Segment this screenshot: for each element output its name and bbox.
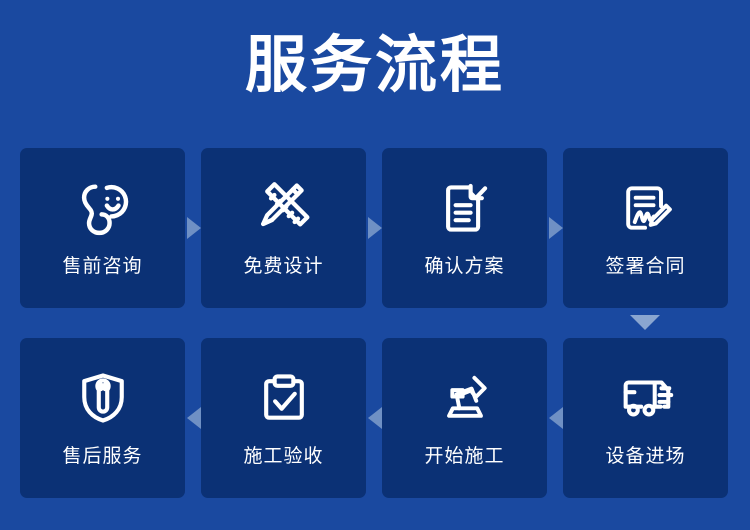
process-step-card-6[interactable]: 开始施工: [382, 338, 547, 498]
pencil-ruler-icon: [201, 172, 366, 244]
process-grid: 售前咨询 免费设计: [20, 148, 730, 498]
arrow-left-icon: [549, 407, 563, 429]
process-step-label: 售前咨询: [20, 254, 185, 280]
shield-wrench-icon: [20, 362, 185, 434]
page-title: 服务流程: [0, 28, 750, 104]
delivery-truck-icon: [563, 362, 728, 434]
process-step-card-7[interactable]: 施工验收: [201, 338, 366, 498]
clipboard-check-icon: [201, 362, 366, 434]
arrow-left-icon: [368, 407, 382, 429]
arrow-right-icon: [549, 217, 563, 239]
process-step-label: 免费设计: [201, 254, 366, 280]
process-step-card-8[interactable]: 售后服务: [20, 338, 185, 498]
contract-signature-pen-icon: [563, 172, 728, 244]
process-step-card-3[interactable]: 确认方案: [382, 148, 547, 308]
process-step-card-4[interactable]: 签署合同: [563, 148, 728, 308]
process-step-label: 售后服务: [20, 444, 185, 470]
process-step-label: 设备进场: [563, 444, 728, 470]
service-process-infographic: 服务流程 售前咨询: [0, 0, 750, 530]
process-step-label: 签署合同: [563, 254, 728, 280]
process-step-card-1[interactable]: 售前咨询: [20, 148, 185, 308]
process-step-card-5[interactable]: 设备进场: [563, 338, 728, 498]
arrow-right-icon: [187, 217, 201, 239]
excavator-icon: [382, 362, 547, 434]
process-step-card-2[interactable]: 免费设计: [201, 148, 366, 308]
process-step-label: 确认方案: [382, 254, 547, 280]
arrow-left-icon: [187, 407, 201, 429]
document-check-icon: [382, 172, 547, 244]
process-step-label: 开始施工: [382, 444, 547, 470]
process-step-label: 施工验收: [201, 444, 366, 470]
arrow-right-icon: [368, 217, 382, 239]
arrow-down-icon: [630, 315, 660, 330]
phone-smile-icon: [20, 172, 185, 244]
